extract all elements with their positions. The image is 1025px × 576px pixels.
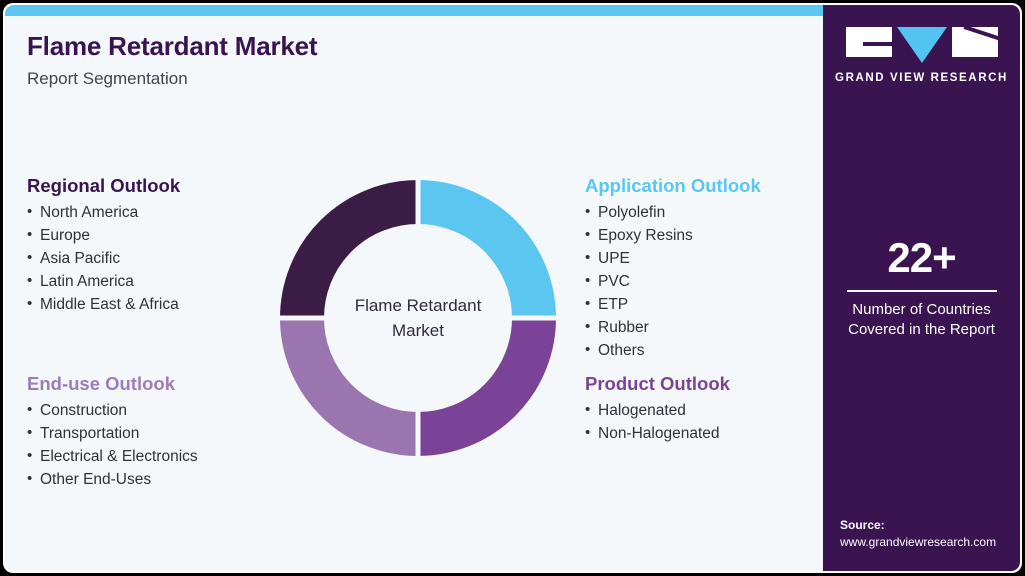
logo-v-triangle-icon [897, 27, 947, 63]
list-item: Europe [27, 224, 277, 247]
page-subtitle: Report Segmentation [27, 69, 667, 89]
list-item: Middle East & Africa [27, 293, 277, 316]
list-item: ETP [585, 293, 815, 316]
segment-block-product: Product Outlook Halogenated Non-Halogena… [585, 373, 815, 445]
stat-label-line2: Covered in the Report [823, 320, 1020, 340]
donut-segment-enduse [302, 318, 418, 434]
list-item: Latin America [27, 270, 277, 293]
list-item: Others [585, 339, 815, 362]
logo-g-icon [846, 27, 892, 57]
list-item: Construction [27, 399, 287, 422]
list-item: Transportation [27, 422, 287, 445]
source-url[interactable]: www.grandviewresearch.com [840, 534, 996, 551]
page-title: Flame Retardant Market [27, 31, 667, 62]
list-item: Asia Pacific [27, 247, 277, 270]
donut-chart: Flame Retardant Market [273, 173, 563, 463]
product-outlook-list: Halogenated Non-Halogenated [585, 399, 815, 445]
infographic-frame: Flame Retardant Market Report Segmentati… [0, 0, 1025, 576]
accent-top-bar [5, 5, 823, 16]
infographic-card: Flame Retardant Market Report Segmentati… [5, 5, 1020, 571]
stat-label: Number of Countries Covered in the Repor… [823, 300, 1020, 340]
gvr-logo: GRAND VIEW RESEARCH [823, 27, 1020, 84]
logo-wordmark: GRAND VIEW RESEARCH [835, 72, 1008, 84]
list-item: Rubber [585, 316, 815, 339]
list-item: Polyolefin [585, 201, 815, 224]
brand-panel: GRAND VIEW RESEARCH 22+ Number of Countr… [823, 5, 1020, 571]
stat-number: 22+ [823, 237, 1020, 279]
application-outlook-list: Polyolefin Epoxy Resins UPE PVC ETP Rubb… [585, 201, 815, 362]
country-stat: 22+ Number of Countries Covered in the R… [823, 237, 1020, 340]
list-item: Electrical & Electronics [27, 445, 287, 468]
list-item: Other End-Uses [27, 468, 287, 491]
application-outlook-heading: Application Outlook [585, 175, 815, 197]
product-outlook-heading: Product Outlook [585, 373, 815, 395]
donut-segment-application [418, 202, 534, 318]
segment-block-enduse: End-use Outlook Construction Transportat… [27, 373, 287, 491]
list-item: PVC [585, 270, 815, 293]
donut-svg [273, 173, 563, 463]
header: Flame Retardant Market Report Segmentati… [27, 31, 667, 89]
donut-segment-regional [302, 202, 418, 318]
donut-segment-product [418, 318, 534, 434]
segment-block-application: Application Outlook Polyolefin Epoxy Res… [585, 175, 815, 362]
regional-outlook-heading: Regional Outlook [27, 175, 277, 197]
logo-marks [846, 27, 998, 63]
regional-outlook-list: North America Europe Asia Pacific Latin … [27, 201, 277, 316]
segment-block-regional: Regional Outlook North America Europe As… [27, 175, 277, 316]
list-item: North America [27, 201, 277, 224]
list-item: Non-Halogenated [585, 422, 815, 445]
logo-r-icon [952, 27, 998, 57]
enduse-outlook-list: Construction Transportation Electrical &… [27, 399, 287, 491]
source-title: Source: [840, 517, 996, 534]
stat-divider [847, 290, 997, 292]
list-item: UPE [585, 247, 815, 270]
list-item: Halogenated [585, 399, 815, 422]
list-item: Epoxy Resins [585, 224, 815, 247]
stat-label-line1: Number of Countries [823, 300, 1020, 320]
source-block: Source: www.grandviewresearch.com [840, 517, 996, 551]
enduse-outlook-heading: End-use Outlook [27, 373, 287, 395]
